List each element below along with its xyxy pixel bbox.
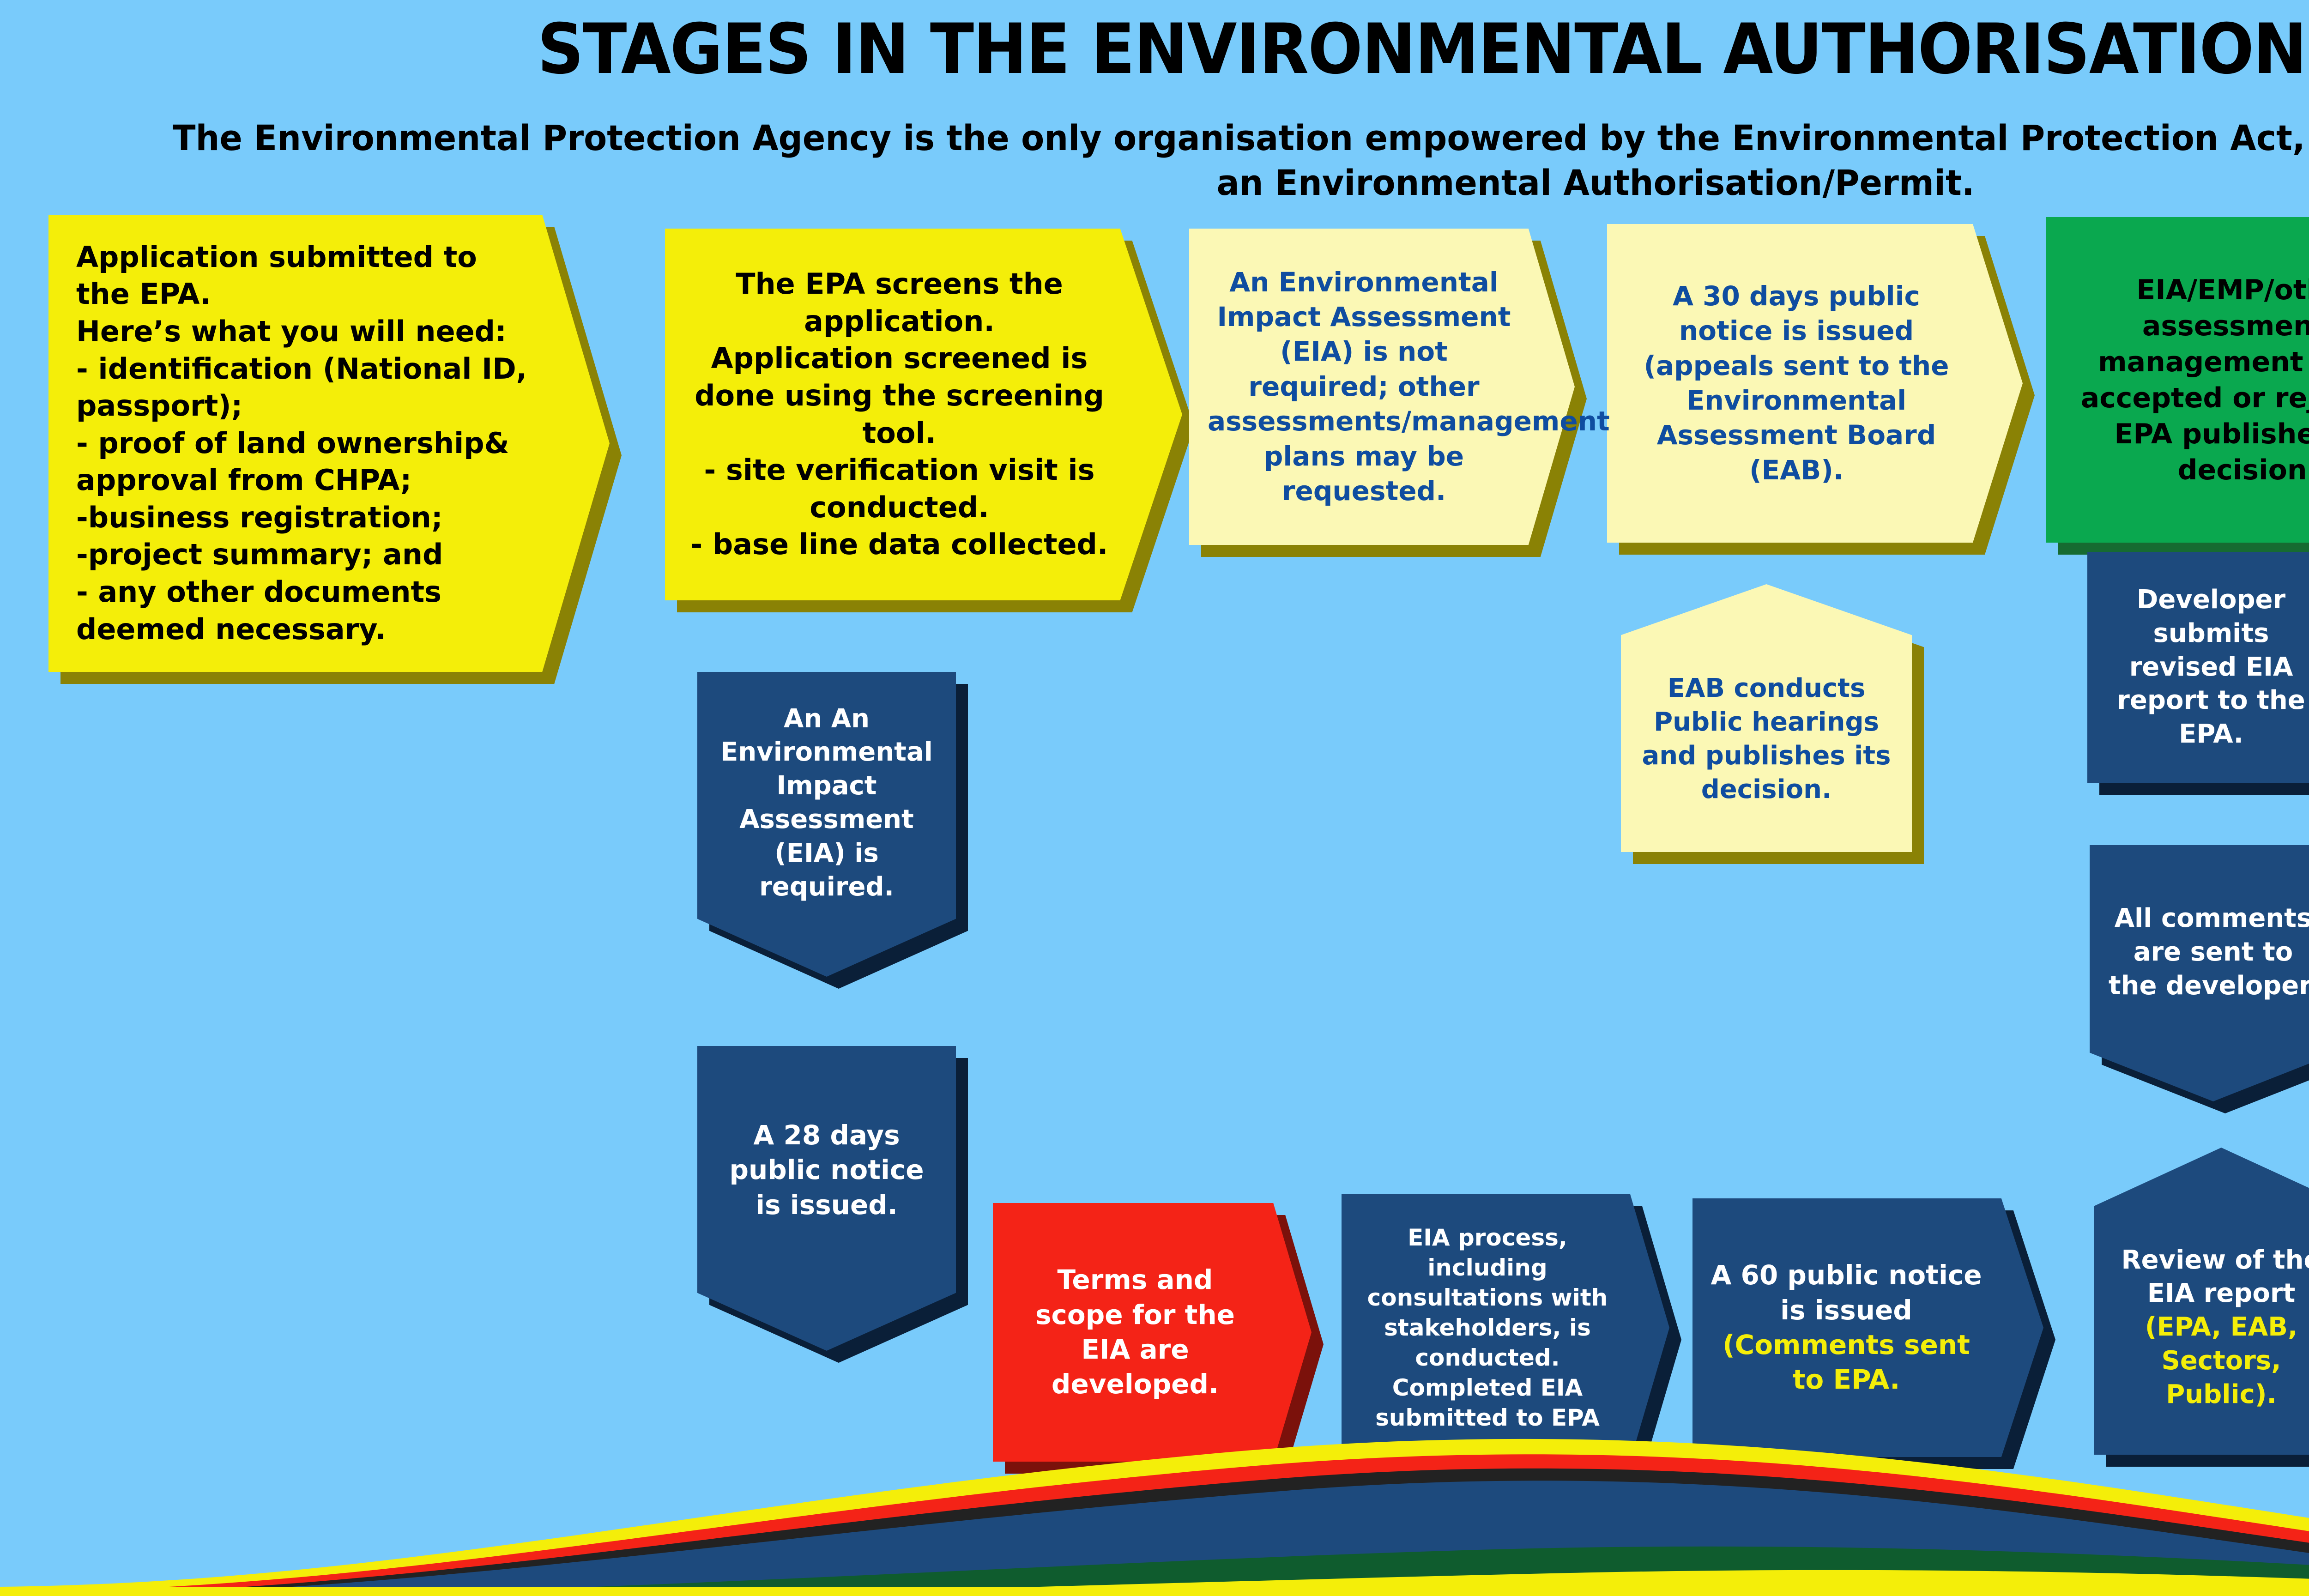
stage-card-developer-submits-revised-eia[interactable]: Developer submits revised EIA report to …: [2087, 552, 2309, 783]
page-subtitle: The Environmental Protection Agency is t…: [166, 115, 2309, 206]
page-title: STAGES IN THE ENVIRONMENTAL AUTHORISATIO…: [112, 9, 2309, 90]
stage-card-twenty-eight-day-public-notice[interactable]: A 28 days public notice is issued.: [697, 1046, 956, 1351]
stage-card-thirty-day-public-notice[interactable]: A 30 days public notice is issued (appea…: [1607, 224, 2023, 543]
stage-card-eab-public-hearings[interactable]: EAB conducts Public hearings and publish…: [1621, 584, 1912, 852]
stage-card-eia-not-required[interactable]: An Environmental Impact Assessment (EIA)…: [1189, 229, 1575, 545]
infographic-canvas: STAGES IN THE ENVIRONMENTAL AUTHORISATIO…: [0, 0, 2309, 1596]
stage-text: All comments are sent to the developer.: [2108, 902, 2309, 1003]
stage-text: An Environmental Impact Assessment (EIA)…: [1208, 265, 1520, 509]
stage-text-line1: Review of the EIA report: [2122, 1245, 2309, 1309]
wave-base: [0, 1587, 2309, 1596]
stage-card-comments-sent-to-developer[interactable]: All comments are sent to the developer.: [2090, 845, 2309, 1101]
stage-text: The EPA screens the application. Applica…: [690, 266, 1108, 563]
stage-text: A 28 days public notice is issued.: [718, 1118, 936, 1222]
stage-text: EIA/EMP/other assessments/ management pl…: [2066, 272, 2309, 488]
stage-card-application-submitted[interactable]: Application submitted to the EPA. Here’s…: [48, 215, 610, 672]
stage-text: Application submitted to the EPA. Here’s…: [76, 239, 540, 648]
stage-text-line1: A 60 public notice is issued: [1711, 1259, 1982, 1325]
decorative-wave-bands: [0, 1356, 2309, 1596]
stage-card-epa-screens-application[interactable]: The EPA screens the application. Applica…: [665, 229, 1182, 600]
stage-text: An An Environmental Impact Assessment (E…: [718, 702, 936, 904]
stage-text: A 30 days public notice is issued (appea…: [1626, 279, 1967, 488]
stage-card-eia-required[interactable]: An An Environmental Impact Assessment (E…: [697, 672, 956, 977]
stage-card-eia-emp-accepted-rejected[interactable]: EIA/EMP/other assessments/ management pl…: [2046, 217, 2309, 543]
stage-text: EAB conducts Public hearings and publish…: [1641, 672, 1892, 806]
stage-text: Developer submits revised EIA report to …: [2104, 583, 2309, 751]
